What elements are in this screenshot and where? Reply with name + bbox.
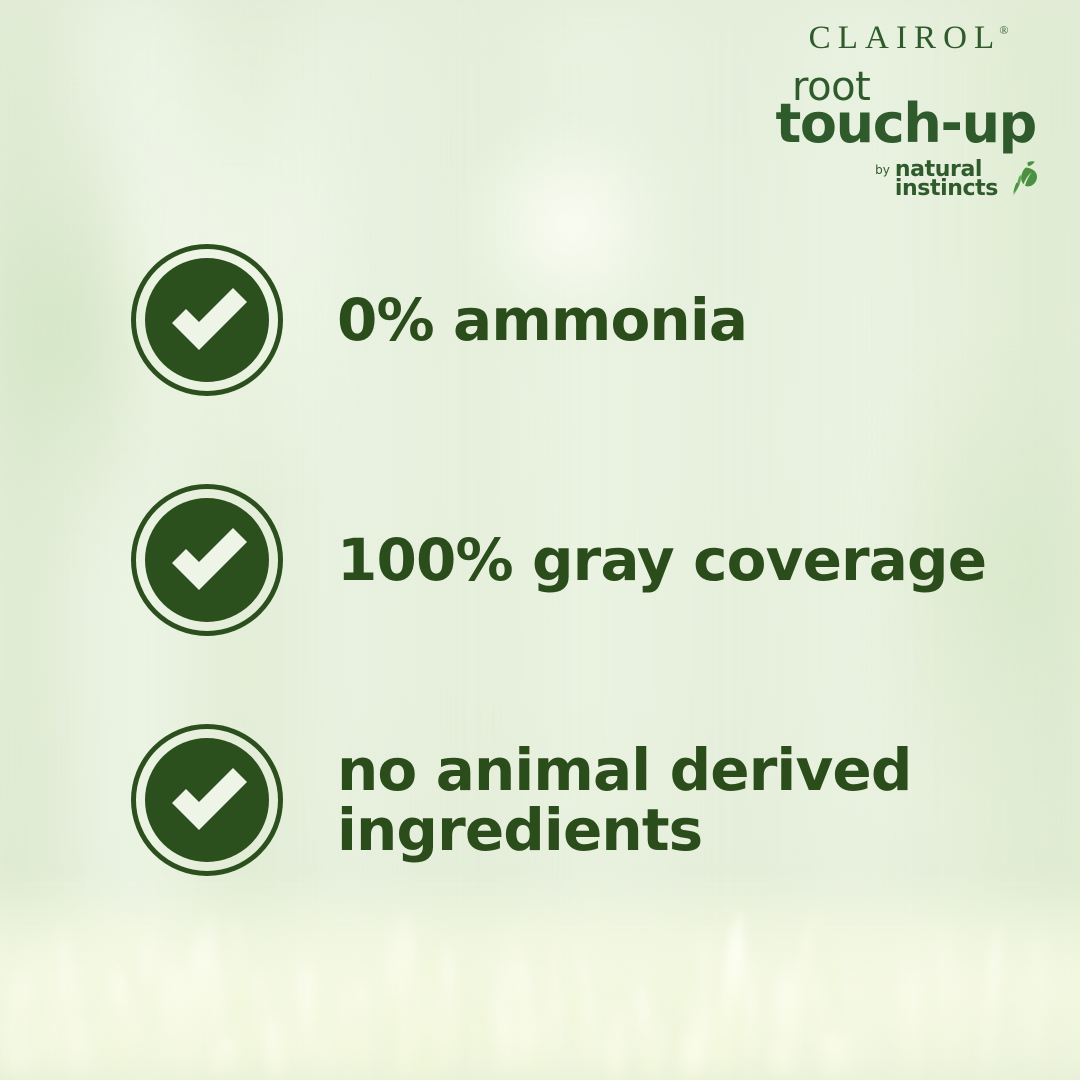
clairol-wordmark: CLAIROL® [802, 22, 1009, 55]
benefit-label: 100% gray coverage [337, 530, 986, 590]
brand-logo-lockup: CLAIROL® root touch-up by natural instin… [770, 22, 1040, 200]
benefit-label: 0% ammonia [337, 290, 747, 350]
product-benefits-graphic: CLAIROL® root touch-up by natural instin… [0, 0, 1080, 1080]
grass-texture-band [0, 850, 1080, 1080]
check-circle-icon [131, 724, 283, 876]
by-label: by [875, 163, 890, 177]
clairol-name: CLAIROL [809, 20, 1002, 56]
benefit-row: 0% ammonia [131, 245, 1011, 395]
check-circle-icon [131, 244, 283, 396]
benefit-row: 100% gray coverage [131, 485, 1011, 635]
instincts-word: instincts [895, 180, 998, 199]
benefit-label: no animal derived ingredients [337, 740, 912, 861]
check-circle-icon [131, 484, 283, 636]
touch-up-word: touch-up [770, 101, 1036, 146]
leaf-icon [1004, 160, 1038, 200]
natural-instincts-byline: by natural instincts [770, 160, 1040, 200]
registered-trademark-icon: ® [999, 23, 1008, 37]
natural-instincts-wordmark: natural instincts [895, 161, 998, 199]
benefit-row: no animal derived ingredients [131, 725, 1011, 875]
root-touch-up-wordmark: root touch-up [770, 71, 1040, 146]
benefits-list: 0% ammonia100% gray coverageno animal de… [131, 245, 1011, 875]
